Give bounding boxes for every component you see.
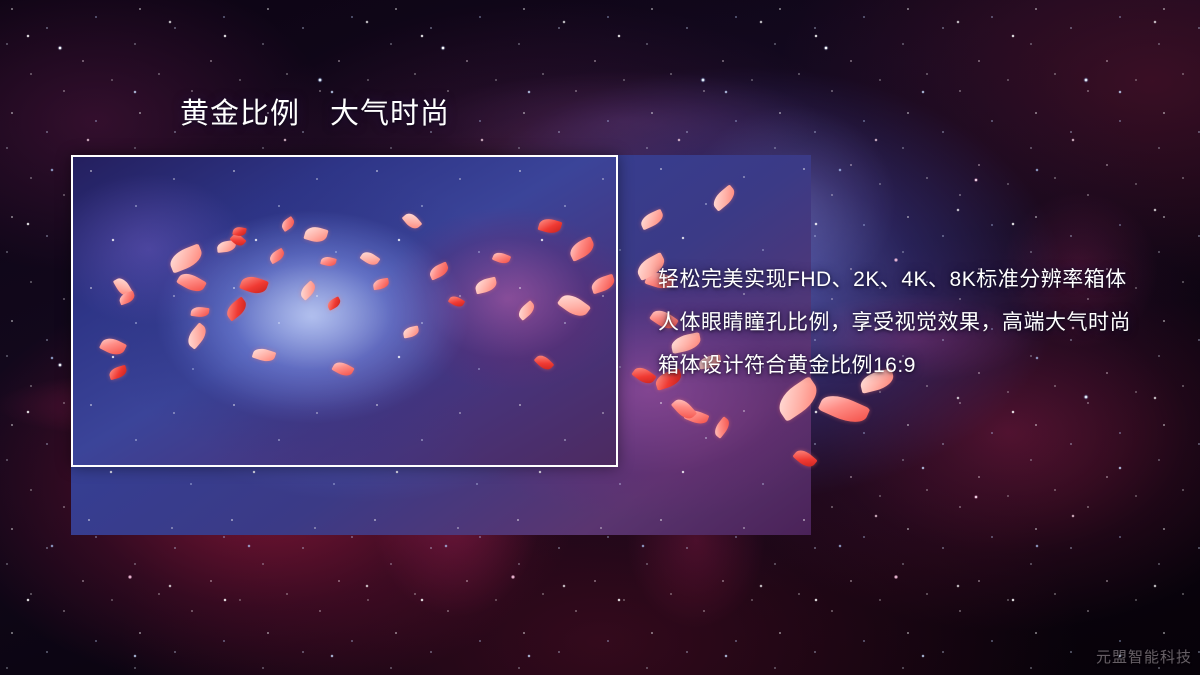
body-text-block: 轻松完美实现FHD、2K、4K、8K标准分辨率箱体 人体眼睛瞳孔比例，享受视觉效… [658, 258, 1178, 387]
watermark: 元盟智能科技 [1096, 646, 1192, 667]
body-line: 轻松完美实现FHD、2K、4K、8K标准分辨率箱体 [658, 258, 1178, 301]
body-line: 箱体设计符合黄金比例16:9 [658, 344, 1178, 387]
framed-image-panel [71, 155, 618, 467]
page-title: 黄金比例 大气时尚 [180, 99, 450, 131]
body-line: 人体眼睛瞳孔比例，享受视觉效果，高端大气时尚 [658, 301, 1178, 344]
petal [818, 389, 871, 429]
slide-canvas: 黄金比例 大气时尚 轻松完美实现FHD、2K、4K、8K标准分辨率箱体 人体眼睛… [0, 0, 1200, 675]
framed-image-core-glow [73, 157, 616, 465]
